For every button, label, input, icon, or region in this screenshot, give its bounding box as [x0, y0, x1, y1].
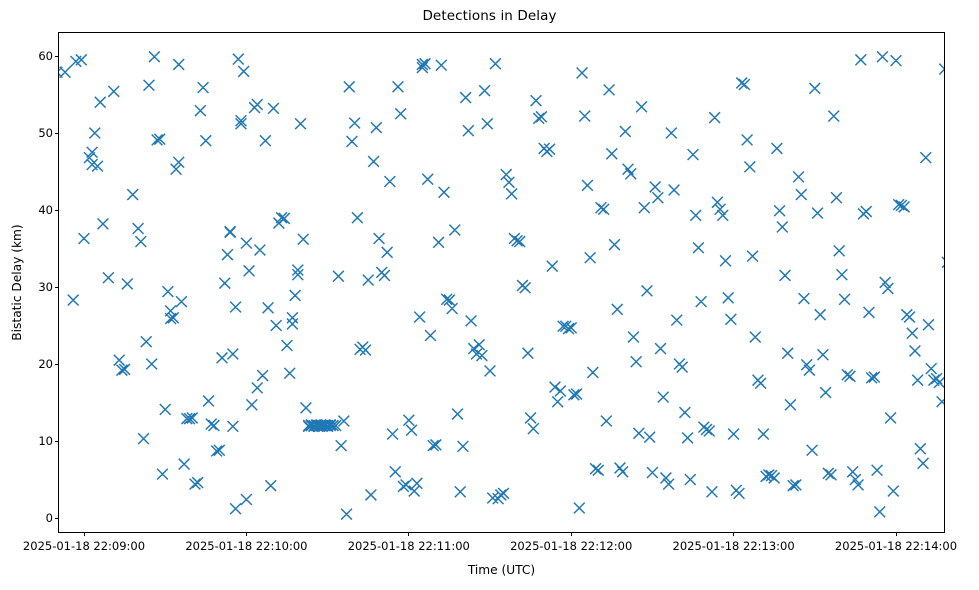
y-tick-mark: [55, 133, 59, 134]
x-tick-label: 2025-01-18 22:09:00: [23, 539, 145, 553]
chart-figure: Detections in Delay 0102030405060 2025-0…: [0, 0, 979, 590]
x-tick-label: 2025-01-18 22:13:00: [673, 539, 795, 553]
scatter-markers-path: [59, 51, 944, 519]
y-tick-label: 30: [38, 280, 53, 294]
x-tick-mark: [246, 532, 247, 536]
scatter-plot-area: [59, 33, 944, 532]
y-axis-label: Bistatic Delay (km): [8, 32, 26, 533]
x-tick-label: 2025-01-18 22:10:00: [185, 539, 307, 553]
y-tick-mark: [55, 441, 59, 442]
y-tick-label: 20: [38, 357, 53, 371]
plot-axes: 0102030405060 2025-01-18 22:09:002025-01…: [58, 32, 945, 533]
y-tick-mark: [55, 56, 59, 57]
x-tick-mark: [896, 532, 897, 536]
page-title: Detections in Delay: [0, 8, 979, 24]
y-tick-mark: [55, 518, 59, 519]
x-tick-mark: [733, 532, 734, 536]
x-tick-mark: [408, 532, 409, 536]
x-tick-mark: [84, 532, 85, 536]
x-tick-label: 2025-01-18 22:12:00: [510, 539, 632, 553]
scatter-marker-group: [59, 51, 944, 519]
scatter-series: [59, 33, 944, 532]
x-axis-label: Time (UTC): [58, 563, 945, 577]
y-tick-mark: [55, 287, 59, 288]
y-tick-label: 40: [38, 203, 53, 217]
y-tick-label: 0: [46, 511, 53, 525]
x-tick-mark: [571, 532, 572, 536]
y-tick-label: 60: [38, 49, 53, 63]
x-tick-label: 2025-01-18 22:14:00: [835, 539, 957, 553]
y-tick-mark: [55, 364, 59, 365]
y-tick-mark: [55, 210, 59, 211]
y-tick-label: 50: [38, 126, 53, 140]
y-tick-label: 10: [38, 434, 53, 448]
x-tick-label: 2025-01-18 22:11:00: [348, 539, 470, 553]
